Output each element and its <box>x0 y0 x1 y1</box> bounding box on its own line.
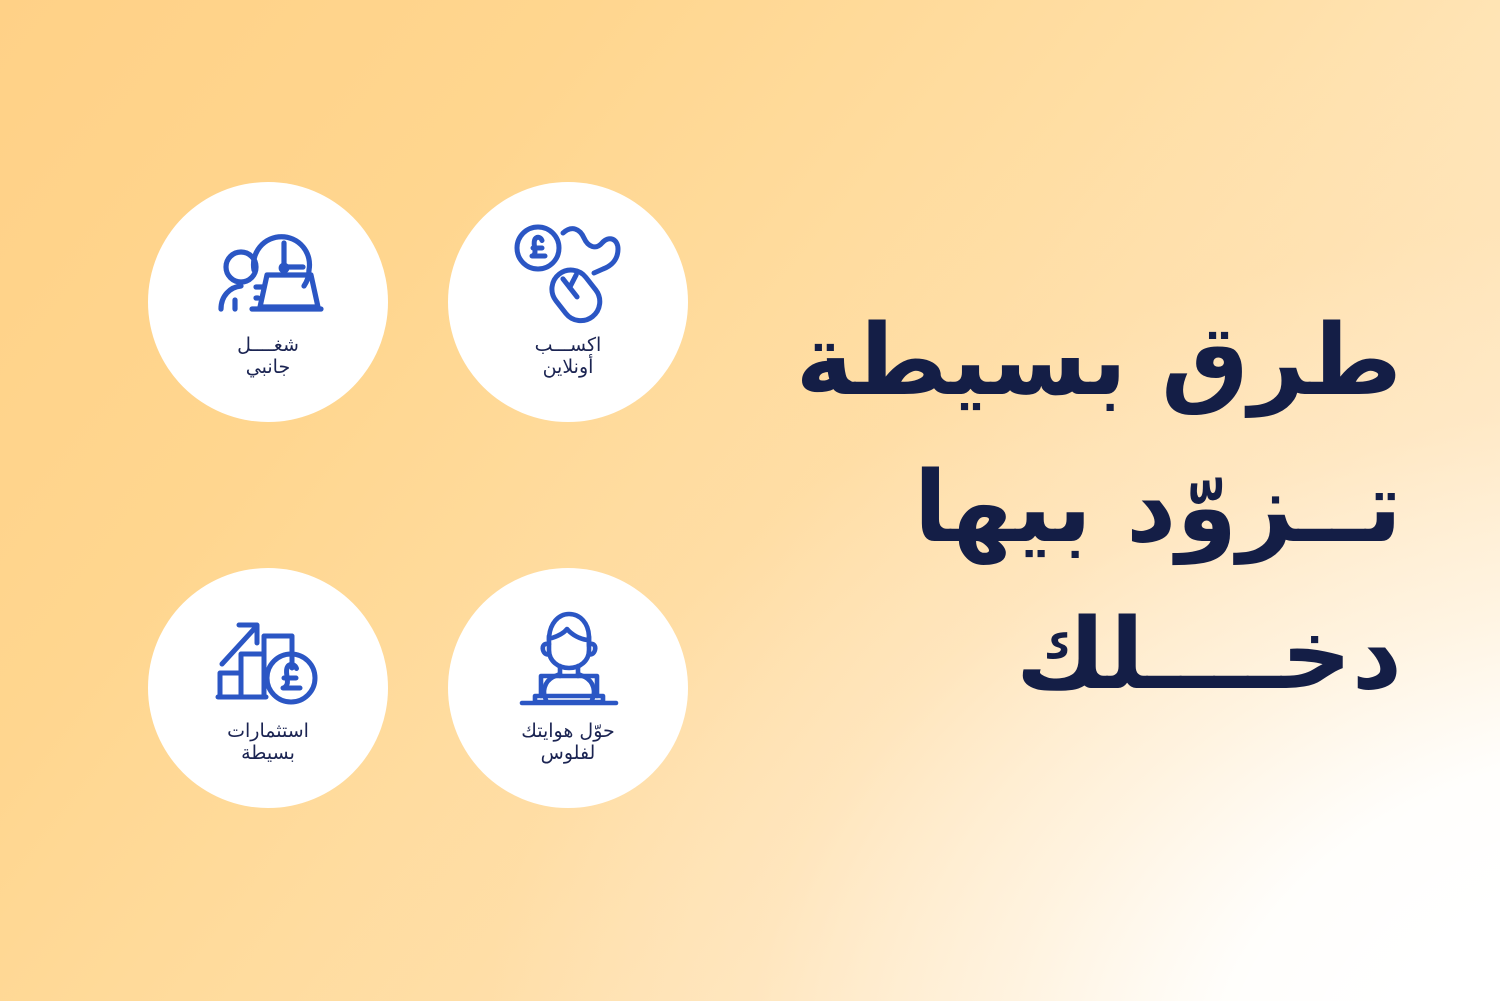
feature-card-simple-investments[interactable]: استثمارات بسيطة <box>148 568 388 808</box>
headline: طرق بسيطة تــزوّد بيها دخــــلك <box>762 288 1402 729</box>
feature-card-side-job[interactable]: شغــــل جانبي <box>148 182 388 422</box>
computer-mouse-with-pound-coin-icon <box>508 220 628 324</box>
headline-line-2: تــزوّد بيها <box>762 435 1402 582</box>
feature-card-label: شغــــل جانبي <box>168 334 368 379</box>
feature-card-label: استثمارات بسيطة <box>168 720 368 765</box>
headline-line-3: دخــــلك <box>762 582 1402 729</box>
feature-card-label: حوّل هوايتك لفلوس <box>468 720 668 765</box>
person-working-on-laptop-icon <box>508 606 628 710</box>
headline-line-1: طرق بسيطة <box>762 288 1402 435</box>
person-at-laptop-with-clock-icon <box>208 220 328 324</box>
feature-card-earn-online[interactable]: اكســـب أونلاين <box>448 182 688 422</box>
feature-card-hobby-to-money[interactable]: حوّل هوايتك لفلوس <box>448 568 688 808</box>
promo-banner: شغــــل جانبي اكســ <box>0 0 1500 1001</box>
feature-card-label: اكســـب أونلاين <box>468 334 668 379</box>
growth-bar-chart-with-pound-coin-icon <box>208 606 328 710</box>
feature-icon-grid: شغــــل جانبي اكســ <box>148 182 720 818</box>
